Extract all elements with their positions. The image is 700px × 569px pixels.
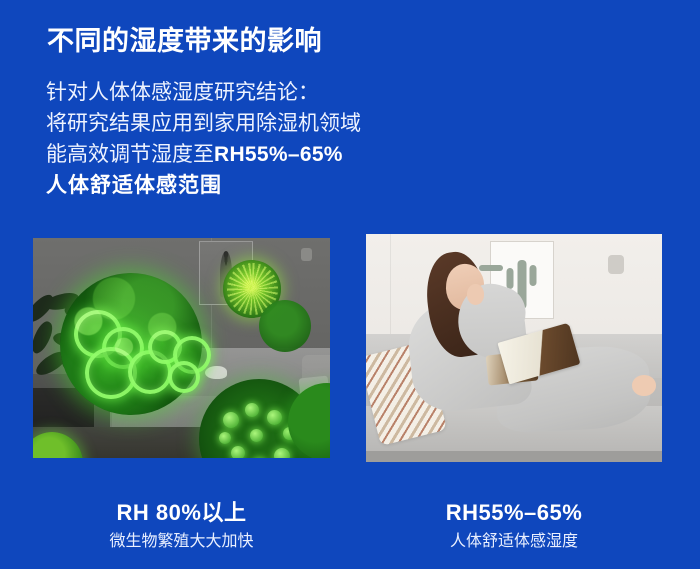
microbe-cell — [148, 330, 182, 364]
photo-high-humidity — [33, 238, 330, 458]
intro-line-3: 能高效调节湿度至RH55%–65% — [46, 139, 361, 170]
microbe-cell — [85, 347, 137, 399]
microbe-sphere-large — [60, 273, 202, 415]
wall-sensor-icon — [301, 248, 312, 261]
microbe-cell — [102, 327, 144, 369]
microbe-cell — [219, 432, 231, 444]
person-foot — [632, 375, 656, 396]
person-hand — [467, 284, 485, 305]
dark-living-room-scene — [33, 238, 330, 458]
microbe-cell — [245, 403, 259, 417]
woman-reading — [366, 234, 662, 462]
intro-line-3-prefix: 能高效调节湿度至 — [46, 143, 214, 166]
microbe-cell — [173, 336, 211, 374]
caption-high-humidity: RH 80%以上 微生物繁殖大大加快 — [33, 499, 330, 554]
intro-line-1: 针对人体体感湿度研究结论： — [46, 77, 361, 108]
page-title: 不同的湿度带来的影响 — [47, 19, 322, 58]
bright-living-room-scene — [366, 234, 662, 462]
caption-subtitle: 微生物繁殖大大加快 — [33, 530, 330, 554]
side-object — [205, 366, 227, 379]
photo-comfort-humidity — [366, 234, 662, 462]
microbe-cell — [128, 350, 172, 394]
microbe-cell — [223, 412, 239, 428]
intro-line-2: 将研究结果应用到家用除湿机领域 — [46, 108, 361, 139]
intro-line-4: 人体舒适体感范围 — [46, 170, 361, 201]
humidity-range-highlight: RH55%–65% — [214, 143, 343, 166]
caption-subtitle: 人体舒适体感湿度 — [366, 530, 662, 554]
microbe-cell — [231, 446, 245, 458]
caption-title: RH55%–65% — [366, 499, 662, 527]
caption-title: RH 80%以上 — [33, 499, 330, 527]
microbe-cell — [267, 410, 282, 425]
microbe-cell — [74, 310, 122, 358]
caption-comfort-humidity: RH55%–65% 人体舒适体感湿度 — [366, 499, 662, 554]
microbe-cell — [274, 448, 290, 458]
microbe-cell — [168, 361, 200, 393]
microbe-sphere-mid — [259, 300, 311, 352]
intro-paragraph: 针对人体体感湿度研究结论： 将研究结果应用到家用除湿机领域 能高效调节湿度至RH… — [46, 77, 361, 201]
promo-page: 不同的湿度带来的影响 针对人体体感湿度研究结论： 将研究结果应用到家用除湿机领域… — [0, 0, 700, 569]
microbe-cell — [250, 429, 263, 442]
